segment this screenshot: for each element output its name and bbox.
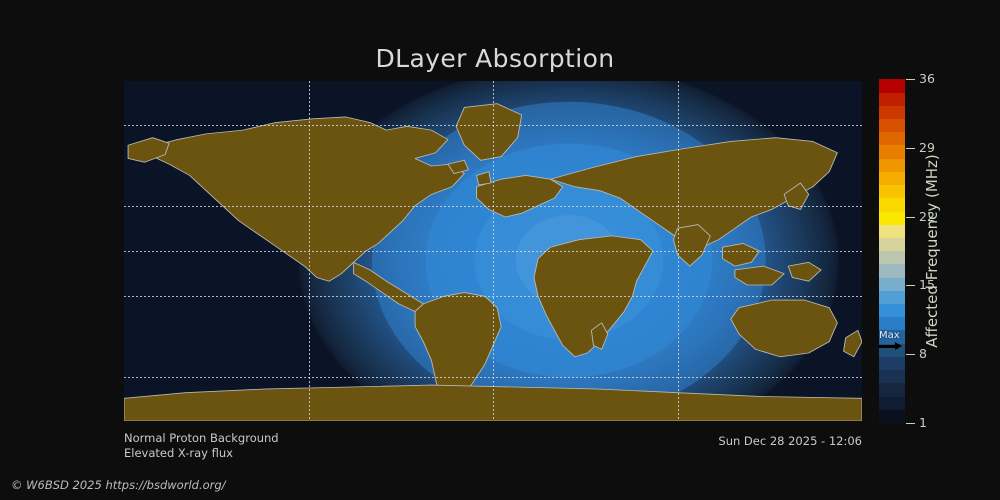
colorbar-segment [879,383,905,396]
plot-root: DLayer Absorption [0,0,1000,500]
colorbar-tick [906,217,915,218]
colorbar-segment [879,264,905,277]
caption-timestamp: Sun Dec 28 2025 - 12:06 [718,434,862,448]
colorbar-segment [879,304,905,317]
colorbar-segment [879,317,905,330]
colorbar-segment [879,159,905,172]
colorbar-segment [879,291,905,304]
footer-credit: © W6BSD 2025 https://bsdworld.org/ [11,478,226,492]
colorbar-segment [879,238,905,251]
colorbar-max-marker: Max [877,331,907,351]
colorbar-axis-title: Affected Frequency (MHz) [922,79,942,423]
map-svg [124,81,862,421]
colorbar-tick [906,354,915,355]
colorbar-segment [879,93,905,106]
colorbar-axis-title-text: Affected Frequency (MHz) [923,154,941,348]
world-map[interactable] [124,81,862,421]
caption-xray-status: Elevated X-ray flux [124,446,233,460]
max-marker-label: Max [877,331,907,341]
colorbar-segment [879,251,905,264]
colorbar[interactable]: Max [879,79,905,423]
colorbar-segment [879,278,905,291]
colorbar-segment [879,397,905,410]
colorbar-segment [879,106,905,119]
max-marker-arrow [877,342,907,351]
colorbar-tick [906,148,915,149]
colorbar-gradient [879,79,905,423]
caption-proton-status: Normal Proton Background [124,431,279,445]
colorbar-segment [879,370,905,383]
colorbar-segment [879,225,905,238]
page-title: DLayer Absorption [0,44,990,73]
colorbar-segment [879,185,905,198]
colorbar-segment [879,145,905,158]
colorbar-segment [879,172,905,185]
colorbar-segment [879,79,905,92]
colorbar-segment [879,198,905,211]
colorbar-segment [879,212,905,225]
colorbar-segment [879,357,905,370]
colorbar-segment [879,132,905,145]
colorbar-segment [879,119,905,132]
colorbar-tick [906,285,915,286]
colorbar-tick [906,423,915,424]
colorbar-tick [906,79,915,80]
colorbar-segment [879,410,905,423]
